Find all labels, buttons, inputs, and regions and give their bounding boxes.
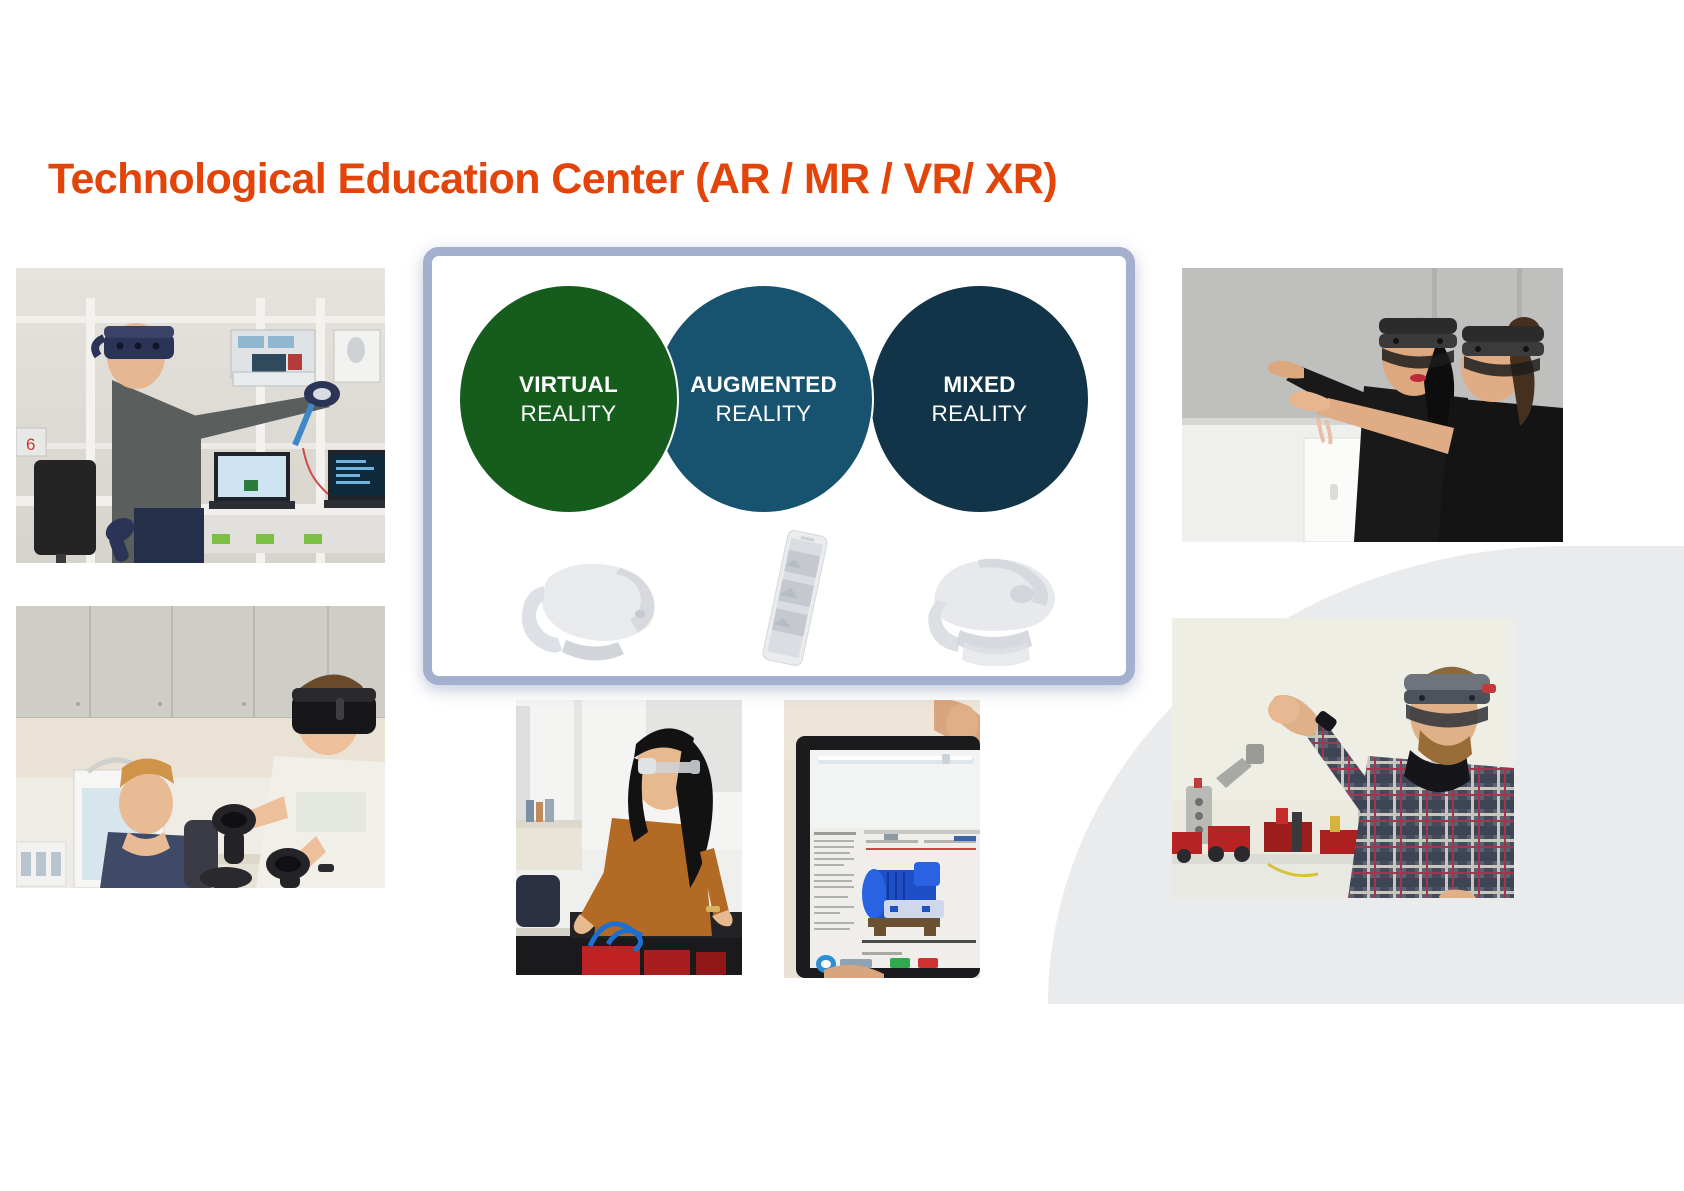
circle-mixed-reality-line2: REALITY [932,402,1028,426]
circle-virtual-reality-line1: VIRTUAL [519,373,618,397]
photo-vr-student-lab-image: 6 [16,268,385,563]
circle-virtual-reality[interactable]: VIRTUAL REALITY [458,284,679,514]
circle-virtual-reality-line2: REALITY [521,402,617,426]
venn-diagram: VIRTUAL REALITY AUGMENTED REALITY MIXED … [432,256,1126,676]
mr-headset-glyph [914,538,1074,666]
svg-text:6: 6 [26,435,35,454]
smartphone-icon [757,528,833,668]
photo-ar-tablet [784,700,980,978]
photo-vr-two-students-image [16,606,385,888]
circle-mixed-reality[interactable]: MIXED REALITY [869,284,1090,514]
photo-smartglasses-instructor [516,700,742,975]
circle-augmented-reality[interactable]: AUGMENTED REALITY [653,284,874,514]
photo-mr-man-plaid-image [1172,618,1514,898]
mixed-reality-headset-icon [914,538,1074,666]
circle-mixed-reality-line1: MIXED [943,373,1015,397]
photo-ar-tablet-image [784,700,980,978]
circle-augmented-reality-line1: AUGMENTED [690,373,837,397]
photo-mr-two-women [1182,268,1563,542]
reality-spectrum-diagram-panel: VIRTUAL REALITY AUGMENTED REALITY MIXED … [423,247,1135,685]
photo-smartglasses-instructor-image [516,700,742,975]
vr-headset-glyph [508,544,668,666]
photo-mr-two-women-image [1182,268,1563,542]
slide-canvas: Technological Education Center (AR / MR … [0,0,1684,1191]
photo-vr-student-lab: 6 [16,268,385,563]
smartphone-glyph [757,528,833,668]
photo-mr-man-plaid [1172,618,1514,898]
page-title: Technological Education Center (AR / MR … [48,155,1057,204]
photo-vr-two-students [16,606,385,888]
vr-headset-icon [508,544,668,666]
circle-augmented-reality-line2: REALITY [716,402,812,426]
